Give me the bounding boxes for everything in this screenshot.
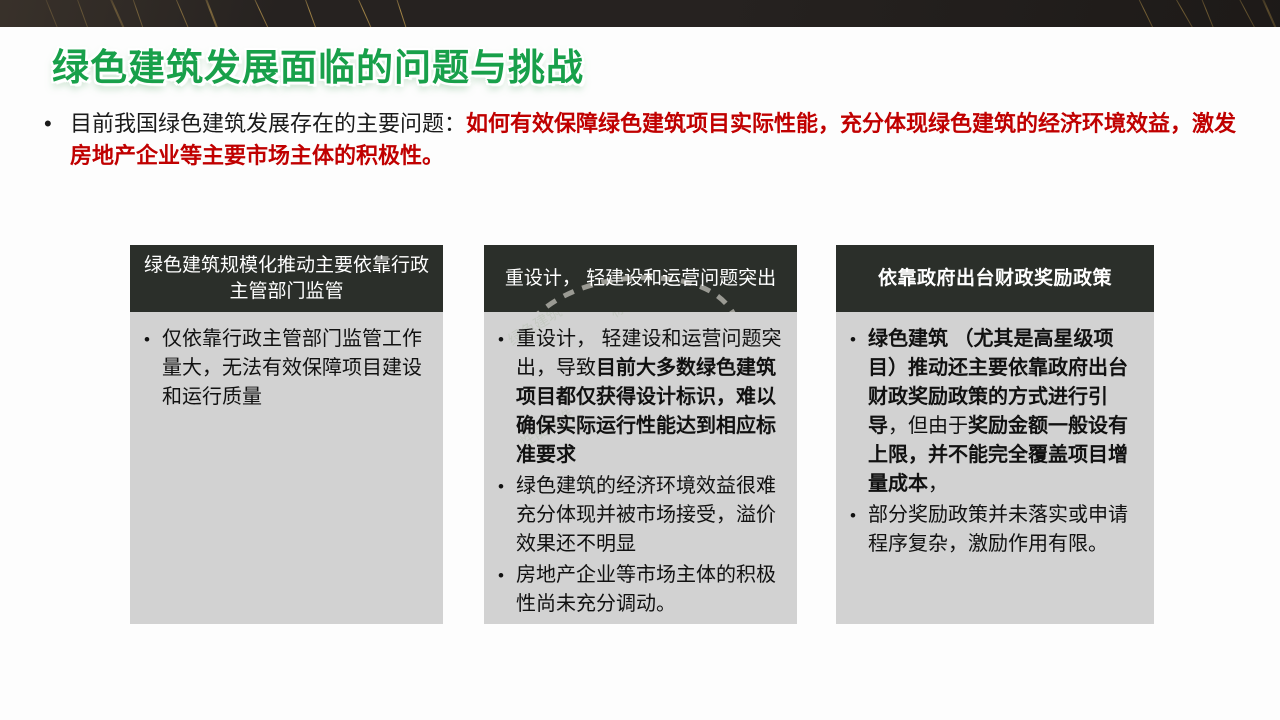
card-design-heavy-header-text: 重设计， 轻建设和运营问题突出 [505, 266, 776, 292]
topbar-sheen [0, 0, 1280, 27]
list-item-text: ，但由于 [888, 415, 968, 437]
gold-line [170, 0, 194, 27]
card-row: 绿色建筑规模化推动主要依靠行政主管部门监管 仅依靠行政主管部门监管工作量大，无法… [130, 245, 1154, 625]
gold-line [1132, 0, 1158, 27]
list-item: 绿色建筑 （尤其是高星级项目）推动还主要依靠政府出台财政奖励政策的方式进行引导，… [846, 325, 1142, 499]
card-design-heavy: 重设计， 轻建设和运营问题突出 绿色建筑 标识发布 性能标准 重设计， 轻建设和… [484, 245, 797, 624]
gold-line [1256, 0, 1280, 27]
list-item: 重设计， 轻建设和运营问题突出，导致目前大多数绿色建筑项目都仅获得设计标识，难以… [494, 325, 785, 470]
gold-line [72, 0, 93, 27]
gold-line [392, 0, 411, 27]
card-regulation-list: 仅依靠行政主管部门监管工作量大，无法有效保障项目建设和运行质量 [140, 325, 431, 412]
gold-line [352, 0, 377, 27]
gold-line [40, 0, 63, 27]
list-item-text: 房地产企业等市场主体的积极性尚未充分调动。 [516, 564, 776, 615]
lead-normal-text: 目前我国绿色建筑发展存在的主要问题： [70, 111, 466, 136]
gold-line [1168, 0, 1198, 27]
card-subsidy-header-text: 依靠政府出台财政奖励政策 [878, 266, 1112, 292]
lead-text: 目前我国绿色建筑发展存在的主要问题：如何有效保障绿色建筑项目实际性能，充分体现绿… [42, 108, 1242, 172]
list-item-text: 绿色建筑的经济环境效益很难充分体现并被市场接受，溢价效果还不明显 [516, 475, 776, 555]
gold-line [104, 0, 129, 27]
card-subsidy-body: 绿色建筑 （尤其是高星级项目）推动还主要依靠政府出台财政奖励政策的方式进行引导，… [836, 312, 1154, 624]
list-item-text-2: ， [928, 473, 948, 495]
card-subsidy-header: 依靠政府出台财政奖励政策 [836, 245, 1154, 312]
gold-line [200, 0, 223, 27]
gold-line [248, 0, 273, 27]
card-regulation-header: 绿色建筑规模化推动主要依靠行政主管部门监管 [130, 245, 443, 312]
gold-line [1196, 0, 1219, 27]
card-subsidy: 依靠政府出台财政奖励政策 绿色建筑 （尤其是高星级项目）推动还主要依靠政府出台财… [836, 245, 1154, 624]
lead-paragraph: • 目前我国绿色建筑发展存在的主要问题：如何有效保障绿色建筑项目实际性能，充分体… [42, 108, 1242, 172]
gold-line [128, 0, 148, 27]
gold-line [1232, 0, 1260, 27]
list-item: 绿色建筑的经济环境效益很难充分体现并被市场接受，溢价效果还不明显 [494, 472, 785, 559]
page-title: 绿色建筑发展面临的问题与挑战 [52, 37, 584, 91]
list-item: 部分奖励政策并未落实或申请程序复杂，激励作用有限。 [846, 501, 1142, 559]
card-design-heavy-header: 重设计， 轻建设和运营问题突出 [484, 245, 797, 312]
card-subsidy-list: 绿色建筑 （尤其是高星级项目）推动还主要依靠政府出台财政奖励政策的方式进行引导，… [846, 325, 1142, 559]
top-decorative-bar [0, 0, 1280, 27]
card-design-heavy-body: 绿色建筑 标识发布 性能标准 重设计， 轻建设和运营问题突出，导致目前大多数绿色… [484, 312, 797, 624]
list-item-text: 仅依靠行政主管部门监管工作量大，无法有效保障项目建设和运行质量 [162, 328, 422, 408]
lead-bullet-icon: • [44, 108, 52, 140]
card-regulation: 绿色建筑规模化推动主要依靠行政主管部门监管 仅依靠行政主管部门监管工作量大，无法… [130, 245, 443, 624]
card-regulation-header-text: 绿色建筑规模化推动主要依靠行政主管部门监管 [142, 253, 431, 305]
list-item: 仅依靠行政主管部门监管工作量大，无法有效保障项目建设和运行质量 [140, 325, 431, 412]
card-design-heavy-list: 重设计， 轻建设和运营问题突出，导致目前大多数绿色建筑项目都仅获得设计标识，难以… [494, 325, 785, 619]
list-item-text: 部分奖励政策并未落实或申请程序复杂，激励作用有限。 [868, 504, 1128, 555]
gold-line [300, 0, 321, 27]
card-regulation-body: 仅依靠行政主管部门监管工作量大，无法有效保障项目建设和运行质量 [130, 312, 443, 624]
list-item: 房地产企业等市场主体的积极性尚未充分调动。 [494, 561, 785, 619]
